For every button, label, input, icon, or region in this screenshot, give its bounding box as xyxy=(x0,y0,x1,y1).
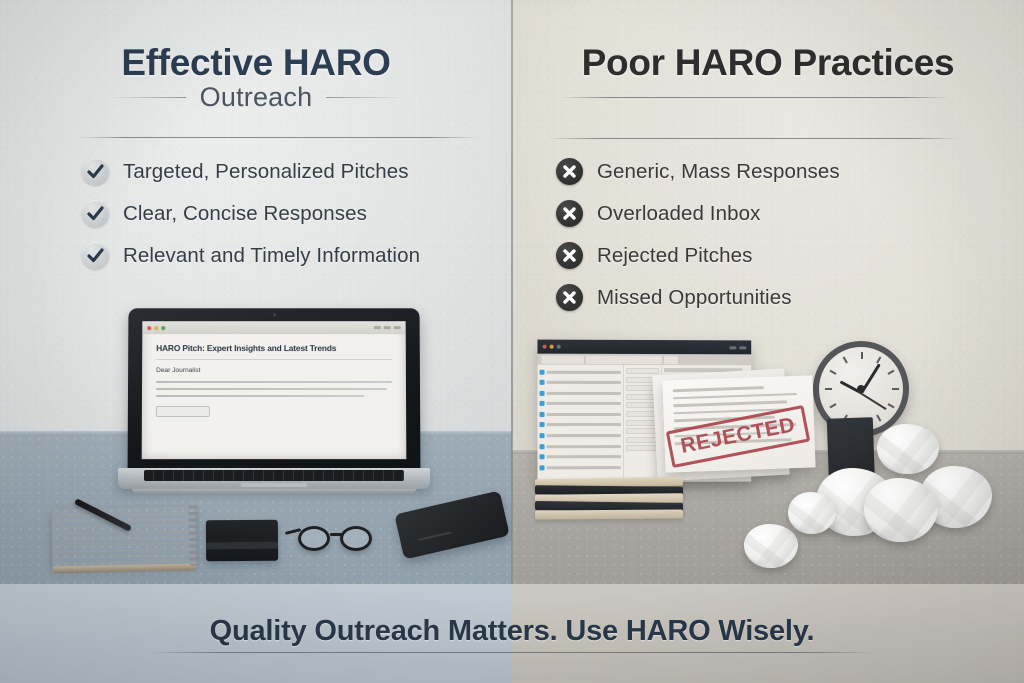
eyeglasses-lens-left xyxy=(298,526,330,551)
tab-inbox[interactable] xyxy=(542,355,584,363)
clock-tick xyxy=(887,403,894,408)
list-item-label: Targeted, Personalized Pitches xyxy=(123,160,409,184)
left-panel-effective-haro: Effective HARO Outreach Targeted, Person… xyxy=(0,0,512,683)
text-line xyxy=(547,392,621,395)
list-item: Targeted, Personalized Pitches xyxy=(82,158,420,185)
table-row[interactable] xyxy=(539,421,620,429)
close-icon[interactable] xyxy=(543,345,547,349)
notebook-pages xyxy=(51,506,196,567)
left-title-sub: Outreach xyxy=(200,82,313,113)
table-row[interactable] xyxy=(539,400,620,408)
text-line xyxy=(547,445,621,448)
text-line xyxy=(673,400,787,407)
settings-icon[interactable] xyxy=(394,326,401,329)
banner-tagline: Quality Outreach Matters. Use HARO Wisel… xyxy=(210,615,815,652)
laptop-screen: HARO Pitch: Expert Insights and Latest T… xyxy=(142,321,407,459)
table-row[interactable] xyxy=(539,463,620,471)
checkbox[interactable] xyxy=(539,391,544,396)
checkbox[interactable] xyxy=(539,401,544,406)
checkbox[interactable] xyxy=(539,380,544,385)
menu-icon[interactable] xyxy=(374,326,381,329)
laptop-trackpad[interactable] xyxy=(241,483,307,487)
tab-add[interactable] xyxy=(664,356,678,364)
laptop-front-edge xyxy=(132,489,416,493)
text-line xyxy=(547,381,621,384)
clock-tick xyxy=(825,388,832,390)
clock-tick xyxy=(829,370,836,375)
spiral-notebook xyxy=(51,506,196,567)
text-line xyxy=(156,388,387,390)
inbox-title-bar xyxy=(537,340,751,355)
email-salutation: Dear Journalist xyxy=(156,367,392,374)
left-bullet-list: Targeted, Personalized Pitches Clear, Co… xyxy=(82,158,420,269)
clock-second-hand xyxy=(861,392,887,409)
minimize-icon[interactable] xyxy=(154,326,158,330)
text-line xyxy=(547,466,621,469)
x-icon xyxy=(556,284,583,311)
webcam-icon xyxy=(273,313,276,316)
text-line xyxy=(156,395,364,397)
left-subtitle-rule-right xyxy=(326,97,404,98)
table-row[interactable] xyxy=(539,432,620,440)
share-icon[interactable] xyxy=(384,326,391,329)
left-heading-block: Effective HARO Outreach xyxy=(0,42,512,113)
folder xyxy=(535,509,683,519)
laptop-keyboard[interactable] xyxy=(144,470,404,481)
table-row[interactable] xyxy=(539,389,620,397)
tab-messages[interactable] xyxy=(586,355,662,363)
table-cell xyxy=(626,368,659,374)
panel-divider xyxy=(511,0,513,683)
list-item-label: Rejected Pitches xyxy=(597,244,752,268)
text-line xyxy=(547,413,621,416)
clock-tick xyxy=(876,356,881,363)
email-cta-button[interactable] xyxy=(156,406,210,417)
inbox-tab-row xyxy=(537,354,751,366)
table-cell xyxy=(626,445,659,451)
table-row[interactable] xyxy=(539,442,620,450)
text-line xyxy=(673,386,764,392)
clock-tick xyxy=(887,370,894,375)
maximize-icon[interactable] xyxy=(557,345,561,349)
checkbox[interactable] xyxy=(539,465,544,470)
checkbox[interactable] xyxy=(539,455,544,460)
email-subject-rule xyxy=(156,359,392,360)
text-line xyxy=(547,370,621,373)
bottom-banner: Quality Outreach Matters. Use HARO Wisel… xyxy=(0,584,1024,683)
checkbox[interactable] xyxy=(539,423,544,428)
browser-toolbar-icons xyxy=(374,326,401,329)
eyeglasses-lens-right xyxy=(340,526,372,551)
checkbox[interactable] xyxy=(539,433,544,438)
text-line xyxy=(673,393,797,400)
list-item-label: Missed Opportunities xyxy=(597,286,792,310)
email-page-content: HARO Pitch: Expert Insights and Latest T… xyxy=(142,334,406,417)
checkbox[interactable] xyxy=(539,412,544,417)
x-icon xyxy=(556,242,583,269)
check-icon xyxy=(82,242,109,269)
text-line xyxy=(156,381,392,383)
banner-underline-rule xyxy=(148,652,876,653)
laptop-lid: HARO Pitch: Expert Insights and Latest T… xyxy=(128,308,421,471)
close-icon[interactable] xyxy=(147,326,151,330)
text-line xyxy=(547,402,621,405)
table-cell xyxy=(626,428,659,434)
right-divider-rule xyxy=(548,138,960,139)
left-divider-rule xyxy=(78,137,478,138)
list-item-label: Relevant and Timely Information xyxy=(123,244,420,268)
clock-tick xyxy=(892,388,899,390)
list-item-label: Overloaded Inbox xyxy=(597,202,760,226)
email-subject: HARO Pitch: Expert Insights and Latest T… xyxy=(156,343,392,353)
settings-icon[interactable] xyxy=(739,346,746,349)
maximize-icon[interactable] xyxy=(161,326,165,330)
clock-tick xyxy=(876,414,881,421)
clock-tick xyxy=(829,403,836,408)
text-line xyxy=(547,455,621,458)
text-line xyxy=(547,423,621,426)
x-icon xyxy=(556,200,583,227)
text-line xyxy=(547,434,621,437)
right-title-main: Poor HARO Practices xyxy=(512,42,1024,84)
eyeglasses xyxy=(298,522,384,554)
list-item-label: Clear, Concise Responses xyxy=(123,202,367,226)
clock-pivot xyxy=(857,385,865,393)
x-icon xyxy=(556,158,583,185)
list-item: Rejected Pitches xyxy=(556,242,840,269)
list-item: Generic, Mass Responses xyxy=(556,158,840,185)
inbox-column-sender xyxy=(537,365,624,483)
list-item: Relevant and Timely Information xyxy=(82,242,420,269)
menu-icon[interactable] xyxy=(729,346,736,349)
right-title-rule xyxy=(560,97,950,98)
table-cell xyxy=(626,437,659,443)
checkbox[interactable] xyxy=(539,444,544,449)
right-heading-block: Poor HARO Practices xyxy=(512,42,1024,84)
table-row[interactable] xyxy=(539,410,620,418)
checkbox[interactable] xyxy=(539,369,544,374)
infographic-canvas: Effective HARO Outreach Targeted, Person… xyxy=(0,0,1024,683)
notebook-spiral-binding xyxy=(188,505,199,565)
check-icon xyxy=(82,200,109,227)
clock-tick xyxy=(861,352,863,359)
check-icon xyxy=(82,158,109,185)
right-bullet-list: Generic, Mass Responses Overloaded Inbox… xyxy=(556,158,840,311)
list-item-label: Generic, Mass Responses xyxy=(597,160,840,184)
list-item: Overloaded Inbox xyxy=(556,200,840,227)
left-subtitle-row: Outreach xyxy=(0,82,512,113)
eyeglasses-bridge xyxy=(330,533,342,536)
black-notebook xyxy=(206,520,278,562)
browser-title-bar xyxy=(142,321,405,334)
laptop: HARO Pitch: Expert Insights and Latest T… xyxy=(118,308,430,503)
list-item: Clear, Concise Responses xyxy=(82,200,420,227)
table-row[interactable] xyxy=(539,378,620,386)
left-title-main: Effective HARO xyxy=(0,42,512,84)
email-body-lines xyxy=(156,381,392,397)
laptop-base xyxy=(118,468,430,489)
minimize-icon[interactable] xyxy=(550,345,554,349)
table-row[interactable] xyxy=(539,453,620,461)
left-subtitle-rule-left xyxy=(108,97,186,98)
folder-stack xyxy=(535,478,683,518)
clock-tick xyxy=(843,356,848,363)
table-row[interactable] xyxy=(539,368,620,376)
list-item: Missed Opportunities xyxy=(556,284,840,311)
